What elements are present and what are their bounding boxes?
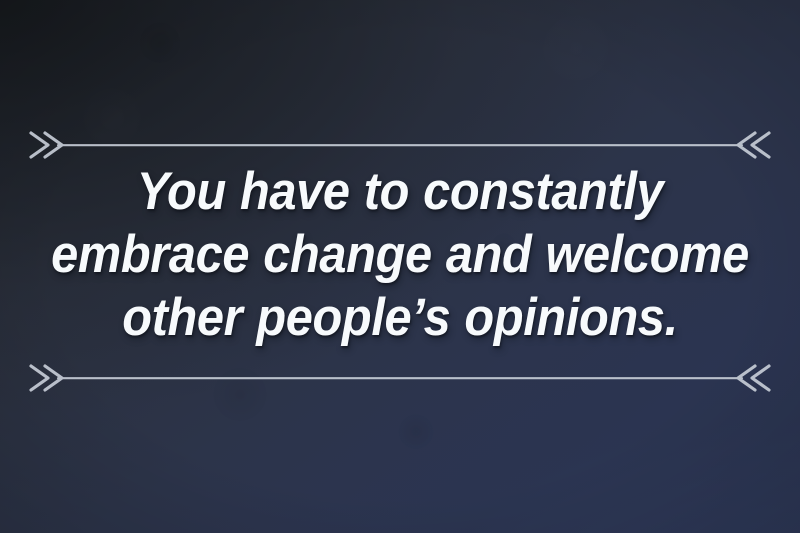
quote-card: You have to constantly embrace change an…	[0, 0, 800, 533]
quote-text: You have to constantly embrace change an…	[32, 160, 768, 349]
bottom-divider	[0, 357, 800, 399]
